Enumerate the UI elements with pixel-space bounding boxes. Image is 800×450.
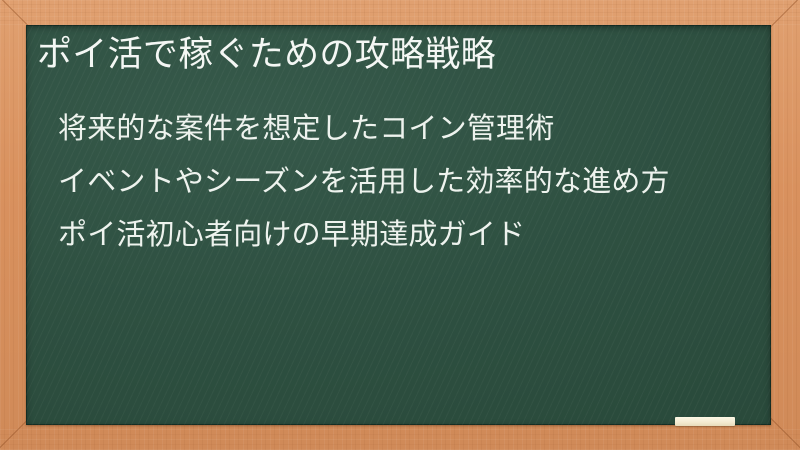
chalkboard-surface: ポイ活で稼ぐための攻略戦略 将来的な案件を想定したコイン管理術 イベントやシーズ…: [26, 25, 771, 425]
chalk-stick-icon: [675, 417, 735, 426]
frame-bottom-ledge: [0, 426, 800, 450]
board-line-3: ポイ活初心者向けの早期達成ガイド: [58, 209, 755, 262]
frame-top-grain: [0, 0, 800, 25]
board-line-2: イベントやシーズンを活用した効率的な進め方: [58, 156, 755, 209]
board-line-1: 将来的な案件を想定したコイン管理術: [58, 103, 755, 156]
board-line-list: 将来的な案件を想定したコイン管理術 イベントやシーズンを活用した効率的な進め方 …: [58, 103, 755, 262]
board-title: ポイ活で稼ぐための攻略戦略: [37, 34, 496, 75]
chalkboard-slide: ポイ活で稼ぐための攻略戦略 将来的な案件を想定したコイン管理術 イベントやシーズ…: [0, 0, 800, 450]
